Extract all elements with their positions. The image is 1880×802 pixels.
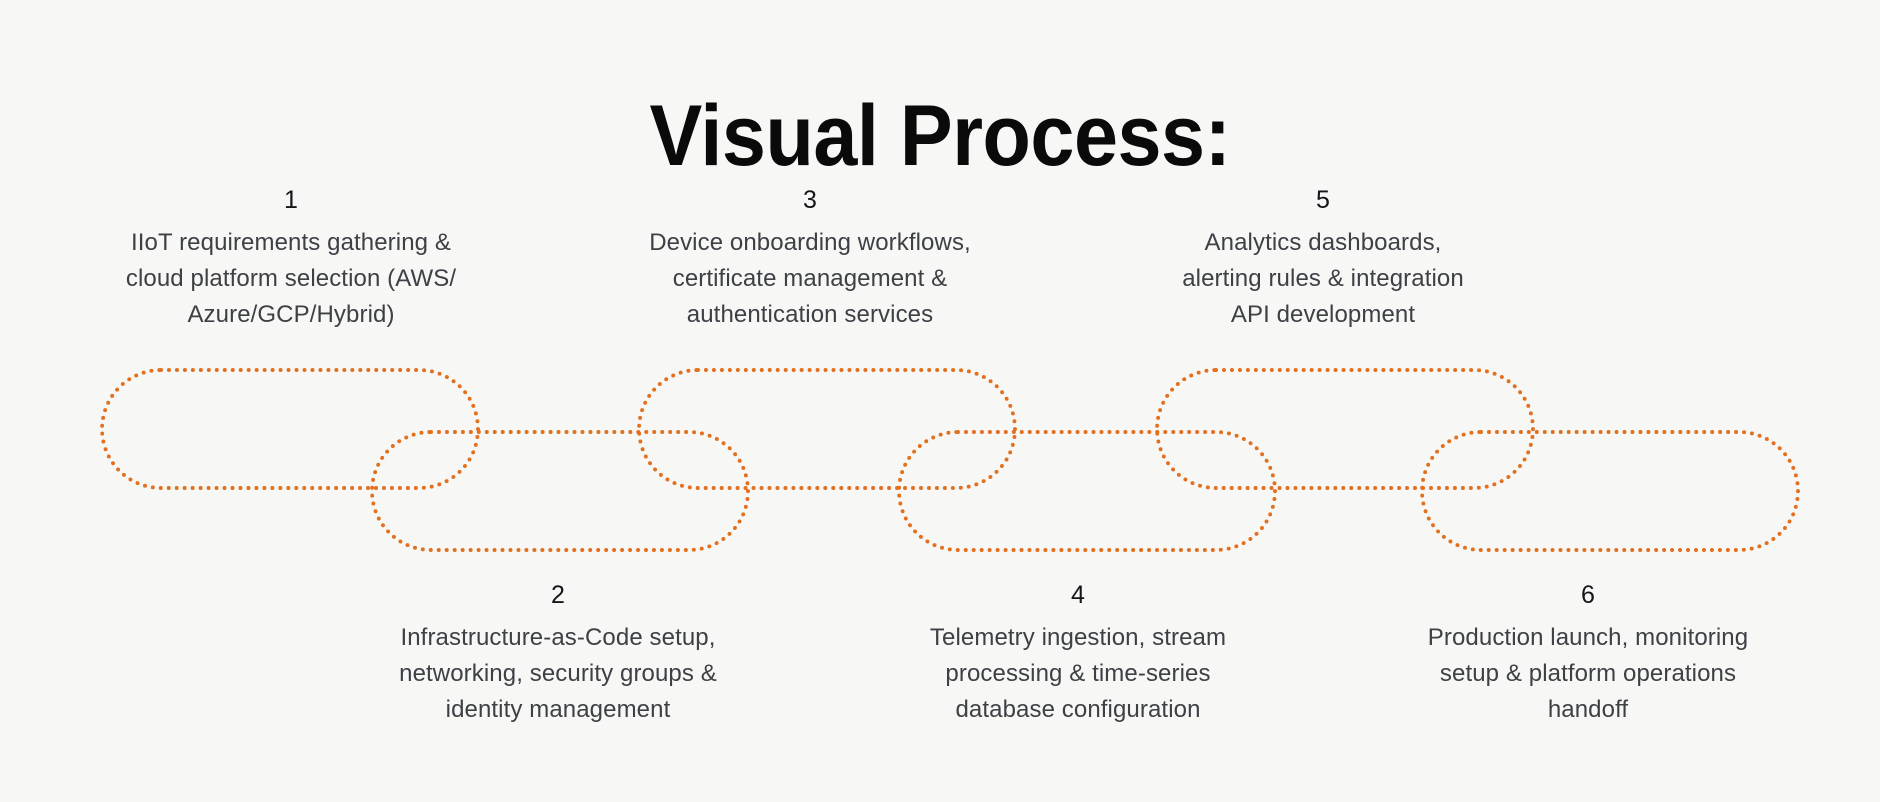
chain-link-1 [100, 368, 480, 490]
process-step-2: 2Infrastructure-as-Code setup, networkin… [368, 580, 748, 728]
step-number-4: 4 [888, 580, 1268, 610]
process-step-1: 1IIoT requirements gathering & cloud pla… [101, 185, 481, 333]
step-number-5: 5 [1133, 185, 1513, 215]
step-description-1: IIoT requirements gathering & cloud plat… [101, 225, 481, 333]
chain-link-2 [370, 430, 750, 552]
chain-link-3 [637, 368, 1017, 490]
process-diagram-canvas: Visual Process: 1IIoT requirements gathe… [0, 0, 1880, 802]
chain-link-6 [1420, 430, 1800, 552]
step-number-3: 3 [620, 185, 1000, 215]
chain-link-4 [897, 430, 1277, 552]
step-number-2: 2 [368, 580, 748, 610]
step-description-4: Telemetry ingestion, stream processing &… [888, 620, 1268, 728]
step-description-3: Device onboarding workflows, certificate… [620, 225, 1000, 333]
step-number-1: 1 [101, 185, 481, 215]
process-step-3: 3Device onboarding workflows, certificat… [620, 185, 1000, 333]
process-step-5: 5Analytics dashboards, alerting rules & … [1133, 185, 1513, 333]
step-description-5: Analytics dashboards, alerting rules & i… [1133, 225, 1513, 333]
chain-link-5 [1155, 368, 1535, 490]
step-description-6: Production launch, monitoring setup & pl… [1398, 620, 1778, 728]
step-description-2: Infrastructure-as-Code setup, networking… [368, 620, 748, 728]
step-number-6: 6 [1398, 580, 1778, 610]
process-step-4: 4Telemetry ingestion, stream processing … [888, 580, 1268, 728]
page-title: Visual Process: [75, 84, 1805, 188]
process-step-6: 6Production launch, monitoring setup & p… [1398, 580, 1778, 728]
